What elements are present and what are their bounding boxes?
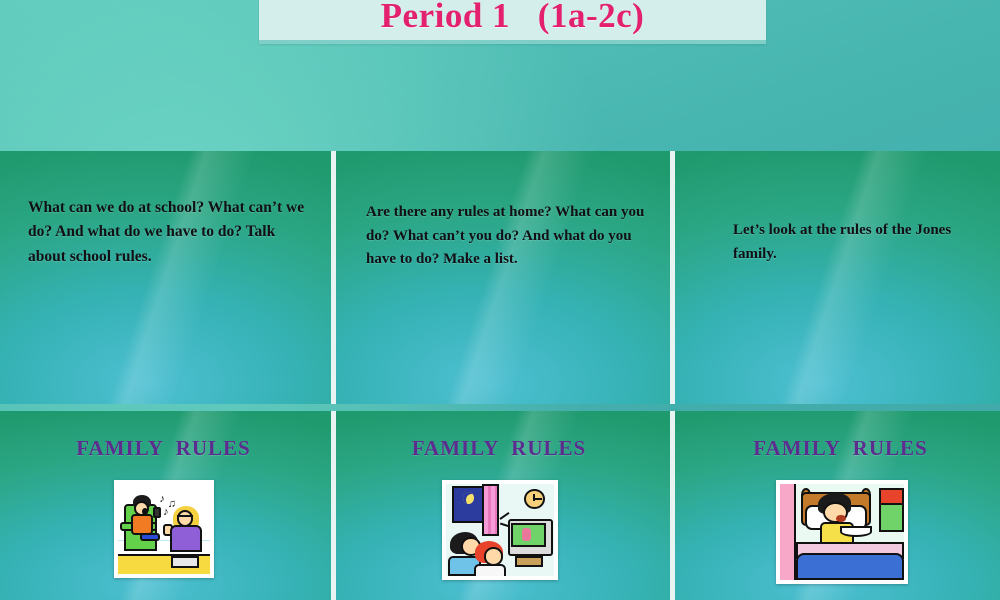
panel-text-school-rules: What can we do at school? What can’t we … bbox=[28, 196, 308, 269]
top-panel-row: What can we do at school? What can’t we … bbox=[0, 151, 1000, 404]
title-banner: Period 1 (1a-2c) bbox=[259, 0, 766, 44]
panel-family-rules-2[interactable]: FAMILY RULES bbox=[336, 411, 670, 600]
family-rules-heading-3: FAMILY RULES bbox=[678, 436, 1000, 461]
loud-music-illustration: ♪ ♫ ♪ bbox=[114, 480, 214, 578]
family-rules-heading-1: FAMILY RULES bbox=[0, 436, 329, 461]
panel-family-rules-1[interactable]: FAMILY RULES ♪ ♫ ♪ bbox=[0, 411, 331, 600]
tv-at-night-illustration bbox=[442, 480, 558, 580]
slide-background: Period 1 (1a-2c) What can we do at schoo… bbox=[0, 0, 1000, 600]
bottom-panel-row: FAMILY RULES ♪ ♫ ♪ bbox=[0, 411, 1000, 600]
panel-family-rules-3[interactable]: FAMILY RULES bbox=[675, 411, 1000, 600]
panel-text-jones-family: Let’s look at the rules of the Jones fam… bbox=[733, 219, 983, 266]
panel-jones-family[interactable]: Let’s look at the rules of the Jones fam… bbox=[675, 151, 1000, 404]
eating-in-bed-illustration bbox=[776, 480, 908, 584]
panel-home-rules[interactable]: Are there any rules at home? What can yo… bbox=[336, 151, 670, 404]
family-rules-heading-2: FAMILY RULES bbox=[336, 436, 666, 461]
panel-text-home-rules: Are there any rules at home? What can yo… bbox=[366, 201, 651, 272]
page-title: Period 1 (1a-2c) bbox=[381, 0, 645, 36]
panel-school-rules[interactable]: What can we do at school? What can’t we … bbox=[0, 151, 331, 404]
